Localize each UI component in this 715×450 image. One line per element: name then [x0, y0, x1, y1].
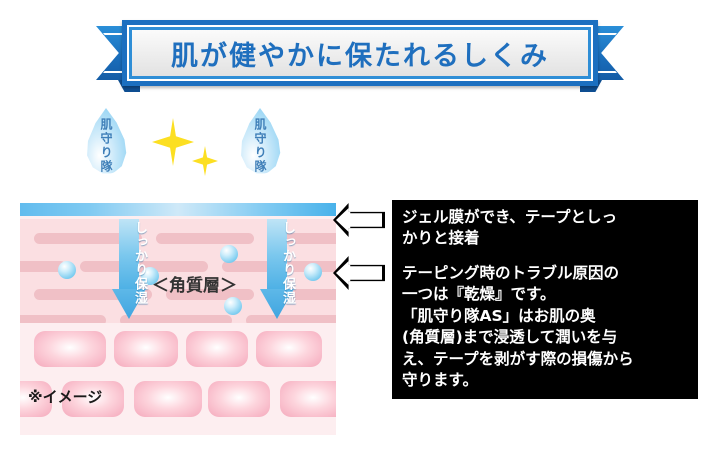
skin-cell: [256, 331, 322, 367]
skin-cell: [208, 381, 270, 417]
stratum-corneum-label: ＜角質層＞: [152, 271, 237, 296]
callout-arrow-moisture-fill: [336, 259, 382, 287]
callout-arrow-gel: [333, 203, 385, 237]
droplet-label-right: 肌守り隊: [254, 108, 266, 174]
callout-text-moisture-line: (角質層)まで浸透して潤いを与: [402, 327, 688, 348]
deep-skin-zone: [20, 323, 336, 435]
moisture-bead: [220, 245, 238, 263]
corneum-dash: [156, 233, 254, 244]
water-droplet-icon-left: 肌守り隊: [84, 108, 128, 174]
sparkle-icon-small: [192, 146, 218, 176]
image-disclaimer-note: ※イメージ: [28, 386, 102, 407]
skin-cell: [186, 331, 248, 367]
title-banner: 肌が健やかに保たれるしくみ: [96, 20, 624, 86]
moisture-bead: [58, 261, 76, 279]
callout-text-gel-line: ジェル膜ができ、テープとしっ: [402, 207, 688, 228]
gel-film-layer: [20, 203, 336, 216]
water-droplet-icon-right: 肌守り隊: [238, 108, 282, 174]
skin-cell: [34, 331, 106, 367]
moisture-arrow-right: しっかり保湿: [260, 219, 294, 323]
moisture-bead: [224, 297, 242, 315]
skin-cell: [114, 331, 178, 367]
callout-text-gel: ジェル膜ができ、テープとしっ かりと接着: [392, 200, 698, 258]
callout-text-gel-line: かりと接着: [402, 228, 688, 249]
droplet-label-left: 肌守り隊: [100, 108, 112, 174]
callout-text-moisture: テーピング時のトラブル原因の 一つは『乾燥』です。 「肌守り隊AS」はお肌の奥 …: [392, 256, 698, 399]
page-title: 肌が健やかに保たれるしくみ: [171, 34, 549, 73]
callout-arrow-moisture: [333, 256, 385, 290]
callout-text-moisture-line: 「肌守り隊AS」はお肌の奥: [402, 306, 688, 327]
banner-plate-border: 肌が健やかに保たれるしくみ: [127, 25, 593, 81]
moisture-arrow-right-label: しっかり保湿: [260, 221, 294, 305]
skin-cell: [280, 381, 336, 417]
skin-cross-section-diagram: しっかり保湿 しっかり保湿 ＜角質層＞ ※イメージ: [20, 203, 336, 435]
skin-cell: [134, 381, 202, 417]
moisture-arrow-left-label: しっかり保湿: [112, 221, 146, 305]
banner-inner-panel: 肌が健やかに保たれるしくみ: [132, 30, 588, 76]
callout-text-moisture-line: テーピング時のトラブル原因の: [402, 263, 688, 284]
callout-text-moisture-line: 守ります。: [402, 370, 688, 391]
banner-plate: 肌が健やかに保たれるしくみ: [122, 20, 598, 86]
sparkle-icon-large: [152, 118, 194, 166]
moisture-bead: [304, 263, 322, 281]
callout-text-moisture-line: 一つは『乾燥』です。: [402, 284, 688, 305]
moisture-arrow-left: しっかり保湿: [112, 219, 146, 323]
callout-text-moisture-line: え、テープを剥がす際の損傷から: [402, 349, 688, 370]
callout-arrow-gel-fill: [336, 206, 382, 234]
stratum-corneum-zone: しっかり保湿 しっかり保湿 ＜角質層＞: [20, 219, 336, 323]
